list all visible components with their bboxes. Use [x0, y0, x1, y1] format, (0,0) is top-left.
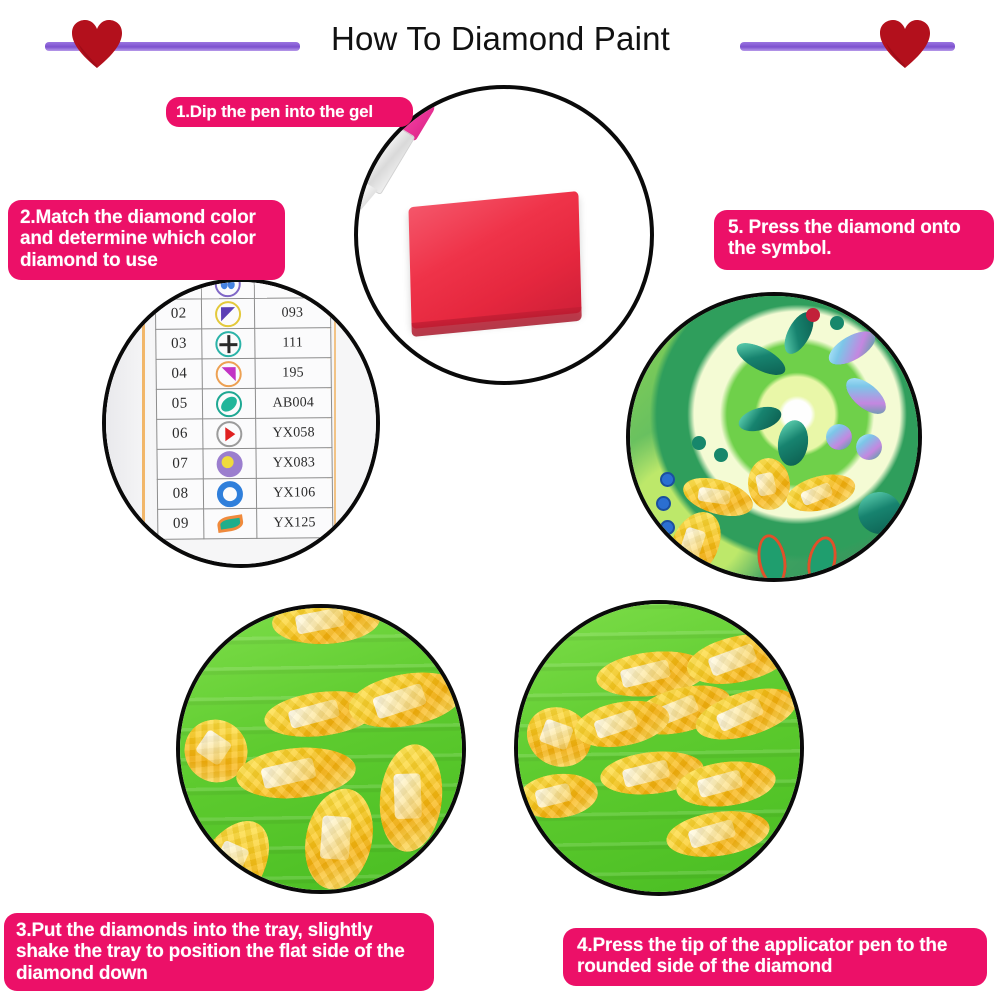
step-4-photo — [514, 600, 804, 896]
legend-code: 028 — [254, 278, 331, 298]
step-2-photo: 02802 09303 11104 19505 AB00406 YX05807 … — [102, 278, 380, 568]
legend-symbol-triangle-left-icon — [202, 298, 255, 329]
color-legend-row: 08YX106 — [157, 478, 332, 510]
color-legend-row: 02 093 — [155, 298, 330, 330]
gel-pad — [408, 191, 581, 329]
legend-symbol-ring-icon — [204, 478, 257, 509]
canvas-symbol-dot — [656, 496, 671, 511]
canvas-symbol-dot — [806, 308, 820, 322]
legend-symbol-triangle-right-icon — [202, 358, 255, 389]
color-legend-table: 02802 09303 11104 19505 AB00406 YX05807 … — [155, 278, 334, 540]
how-to-diamond-paint-infographic: How To Diamond Paint 1.Dip the pen into … — [0, 0, 1001, 1001]
color-legend-row: 03 111 — [156, 328, 331, 360]
canvas-gem — [826, 424, 852, 450]
step-1-photo — [354, 85, 654, 385]
legend-code: 111 — [254, 328, 331, 359]
step-5-label: 5. Press the diamond onto the symbol. — [714, 210, 994, 270]
step-3-label: 3.Put the diamonds into the tray, slight… — [4, 913, 434, 991]
legend-code: 093 — [254, 298, 331, 329]
legend-number: 02 — [155, 299, 202, 329]
color-legend-row: 06 YX058 — [157, 418, 332, 450]
legend-code: 195 — [255, 358, 332, 389]
legend-symbol-filled-dot-icon — [203, 448, 256, 479]
legend-code: YX125 — [256, 508, 333, 539]
legend-symbol-chevron-left-icon — [203, 418, 256, 449]
canvas-symbol-dot — [660, 520, 675, 535]
legend-number: 04 — [156, 359, 203, 389]
color-legend-row: 028 — [155, 278, 330, 299]
legend-number: 05 — [156, 389, 203, 419]
legend-number: 08 — [157, 479, 204, 509]
canvas-gem — [856, 434, 882, 460]
legend-symbol-leaf-icon — [204, 508, 257, 539]
legend-number — [155, 278, 202, 299]
color-legend-row: 04 195 — [156, 358, 331, 390]
legend-symbol-plus-icon — [202, 328, 255, 359]
color-legend-row: 09 YX125 — [158, 508, 333, 540]
canvas-symbol-dot — [830, 316, 844, 330]
chart-margin-line — [334, 282, 336, 564]
step-5-photo — [626, 292, 922, 582]
page-title: How To Diamond Paint — [0, 20, 1001, 58]
legend-code: YX106 — [256, 478, 333, 509]
legend-code: YX058 — [255, 418, 332, 449]
canvas-symbol-dot — [660, 472, 675, 487]
canvas-symbol-dot — [692, 436, 706, 450]
color-legend-row: 05 AB004 — [156, 388, 331, 420]
legend-symbol-diagonal-blob-icon — [203, 388, 256, 419]
legend-number: 09 — [158, 509, 205, 539]
step-4-label: 4.Press the tip of the applicator pen to… — [563, 928, 987, 986]
step-3-photo — [176, 604, 466, 894]
step-1-label: 1.Dip the pen into the gel — [166, 97, 413, 127]
legend-number: 06 — [157, 419, 204, 449]
legend-code: YX083 — [256, 448, 333, 479]
step-2-label: 2.Match the diamond color and determine … — [8, 200, 285, 280]
color-legend-row: 07 YX083 — [157, 448, 332, 480]
legend-number: 03 — [156, 329, 203, 359]
canvas-symbol-dot — [714, 448, 728, 462]
chart-margin-line — [142, 282, 145, 564]
legend-number: 07 — [157, 449, 204, 479]
page-header: How To Diamond Paint — [0, 0, 1001, 80]
legend-symbol-double-dot-circle-icon — [201, 278, 254, 299]
legend-code: AB004 — [255, 388, 332, 419]
